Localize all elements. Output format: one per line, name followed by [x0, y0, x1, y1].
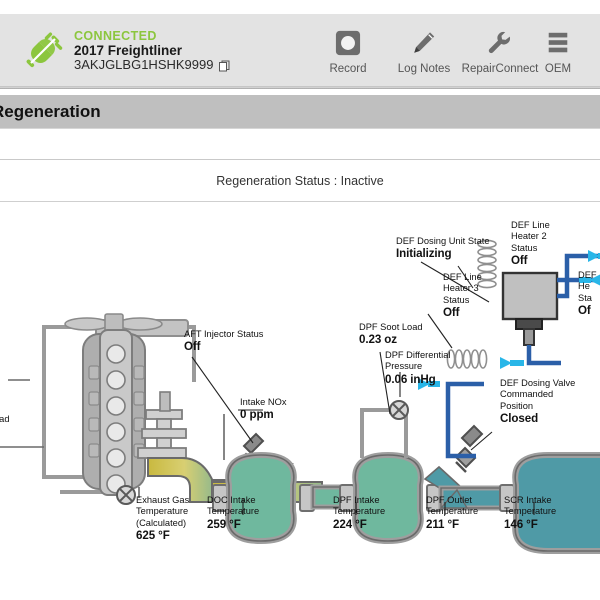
- def-line-heater-2-label: DEF Line Heater 2 Status Off: [511, 220, 550, 268]
- dpf-outlet-temperature-label: DPF Outlet Temperature 211 °F: [426, 495, 478, 532]
- pencil-icon: [411, 28, 437, 58]
- page-title-bar: Regeneration: [0, 95, 600, 128]
- vehicle-vin: 3AKJGLBG1HSHK9999: [74, 58, 213, 73]
- vehicle-name: 2017 Freightliner: [74, 43, 231, 58]
- vehicle-vin-row: 3AKJGLBG1HSHK9999: [74, 58, 231, 73]
- window-top-strip: [0, 0, 600, 14]
- dpf-intake-temperature-label: DPF Intake Temperature 224 °F: [333, 495, 385, 532]
- connection-text: CONNECTED 2017 Freightliner 3AKJGLBG1HSH…: [74, 29, 231, 73]
- def-dosing-valve: [456, 426, 482, 472]
- dpf-soot-load-label: DPF Soot Load 0.23 oz: [359, 322, 423, 347]
- plug-connected-icon: [22, 30, 64, 72]
- record-icon: [335, 28, 361, 58]
- oem-label: OEM: [545, 63, 571, 75]
- connection-block[interactable]: CONNECTED 2017 Freightliner 3AKJGLBG1HSH…: [0, 29, 300, 73]
- wrench-icon: [487, 28, 513, 58]
- scr-intake-temperature-label: SCR Intake Temperature 146 °F: [504, 495, 556, 532]
- log-notes-button[interactable]: Log Notes: [386, 28, 462, 75]
- exhaust-gas-temperature-label: Exhaust Gas Temperature (Calculated) 625…: [136, 495, 189, 543]
- aftertreatment-diagram: oad AFT Injector Status Off Intake NOx 0…: [0, 202, 600, 600]
- app-header: CONNECTED 2017 Freightliner 3AKJGLBG1HSH…: [0, 14, 600, 88]
- connection-status: CONNECTED: [74, 29, 231, 43]
- regeneration-status-bar: Regeneration Status : Inactive: [0, 160, 600, 201]
- oem-button[interactable]: OEM: [538, 28, 578, 75]
- def-line-heater-1-label: DEF He Sta Of: [578, 270, 597, 318]
- doc-intake-temperature-label: DOC Intake Temperature 259 °F: [207, 495, 259, 532]
- page-title: Regeneration: [0, 102, 101, 122]
- app-screen: CONNECTED 2017 Freightliner 3AKJGLBG1HSH…: [0, 0, 600, 600]
- log-notes-label: Log Notes: [398, 63, 450, 75]
- repair-connect-button[interactable]: RepairConnect: [462, 28, 538, 75]
- header-divider: [0, 86, 600, 89]
- def-dosing-unit-state-label: DEF Dosing Unit State Initializing: [396, 236, 490, 261]
- def-line-heater-3-coil: [447, 350, 486, 368]
- intake-nox-label: Intake NOx 0 ppm: [240, 397, 287, 422]
- bottom-spacer: [0, 560, 600, 600]
- engine-load-label: oad: [0, 414, 10, 425]
- copy-icon[interactable]: [219, 60, 231, 72]
- def-line-heater-3-label: DEF Line Heater 3 Status Off: [443, 272, 482, 320]
- repair-connect-label: RepairConnect: [462, 63, 539, 75]
- record-label: Record: [329, 63, 366, 75]
- def-dosing-valve-label: DEF Dosing Valve Commanded Position Clos…: [500, 378, 575, 426]
- regeneration-status-text: Regeneration Status : Inactive: [216, 174, 383, 188]
- aft-injector-status-label: AFT Injector Status Off: [184, 329, 263, 354]
- exhaust-gas-temp-sensor: [117, 486, 135, 504]
- dpf-differential-pressure-label: DPF Differential Pressure 0.06 inHg: [385, 350, 450, 387]
- toolbar-band: [0, 129, 600, 159]
- list-icon: [545, 28, 571, 58]
- toolbar: Record Log Notes Repai: [310, 28, 578, 75]
- record-button[interactable]: Record: [310, 28, 386, 75]
